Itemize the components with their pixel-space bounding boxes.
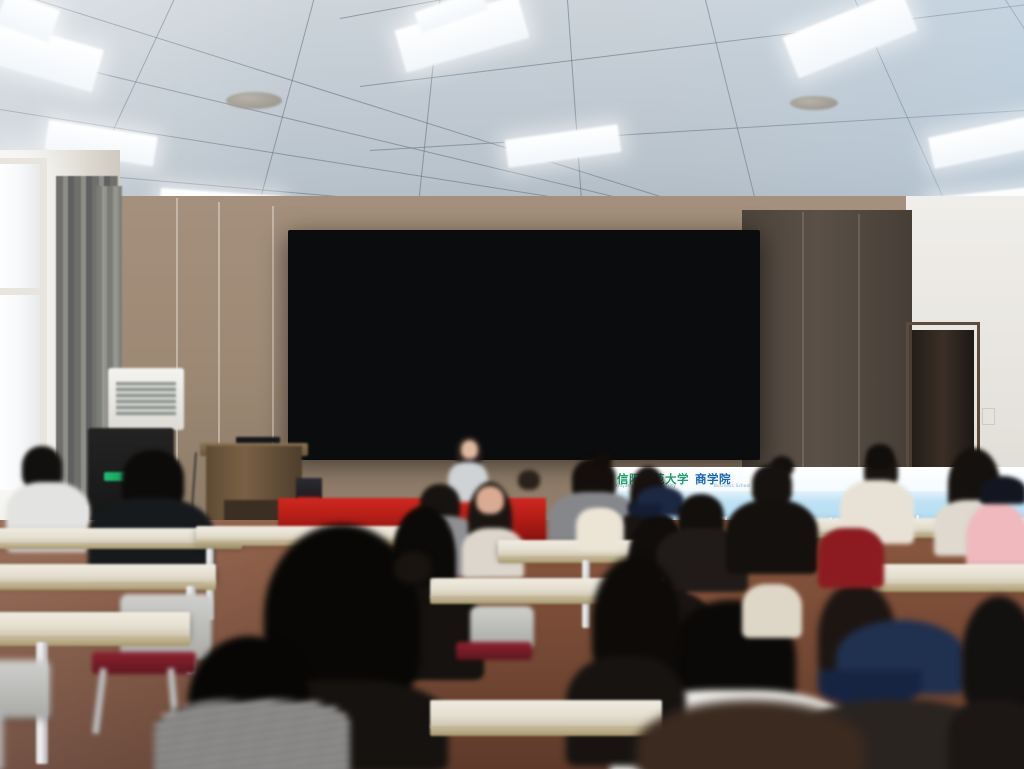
desk bbox=[430, 700, 662, 728]
desk bbox=[0, 612, 190, 638]
ceiling-vent-icon bbox=[226, 92, 282, 109]
podium-microphone-icon bbox=[236, 437, 280, 443]
chair-seat bbox=[456, 642, 532, 660]
chair-leg bbox=[0, 712, 3, 769]
desk bbox=[872, 564, 1024, 586]
chair bbox=[0, 660, 50, 718]
desk-edge bbox=[0, 582, 216, 590]
ac-vent-icon bbox=[116, 382, 176, 416]
window bbox=[0, 160, 40, 490]
wall-seam bbox=[176, 198, 178, 498]
chair-seat bbox=[92, 652, 196, 674]
desk-edge bbox=[0, 636, 190, 646]
window-frame bbox=[0, 288, 44, 295]
window-frame bbox=[40, 158, 47, 488]
desk-edge bbox=[872, 584, 1024, 592]
desk bbox=[0, 564, 216, 584]
logo-school-name-en: Business School bbox=[714, 483, 751, 488]
classroom-photo-scene: 信 信阳师范大学 商学院 Xinyang Normal University B… bbox=[0, 0, 1024, 769]
window-frame bbox=[0, 158, 44, 164]
ceiling-vent-icon bbox=[790, 96, 838, 110]
led-presentation-screen[interactable]: 信 信阳师范大学 商学院 Xinyang Normal University B… bbox=[288, 230, 760, 460]
desk-edge bbox=[430, 726, 662, 736]
light-switch[interactable] bbox=[982, 408, 995, 425]
